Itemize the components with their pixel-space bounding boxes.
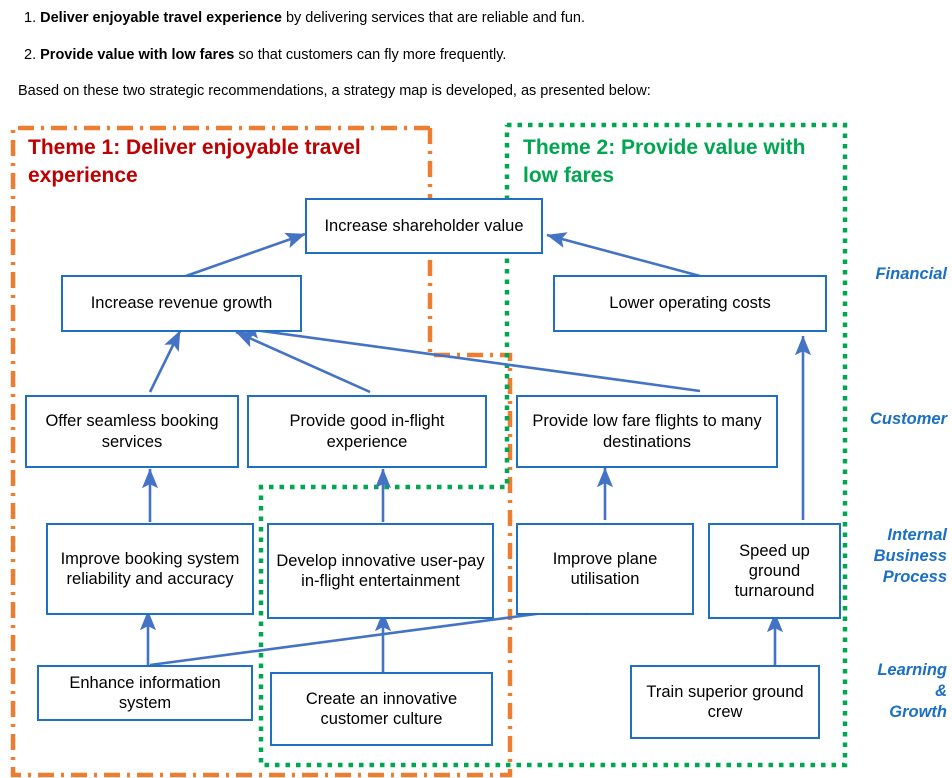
node-improve-booking-system-reliability[interactable]: Improve booking system reliability and a… [46, 523, 254, 615]
arrow-inflight-to-revenue [236, 332, 370, 392]
node-offer-seamless-booking-services[interactable]: Offer seamless booking services [25, 395, 239, 468]
node-increase-revenue-growth[interactable]: Increase revenue growth [61, 275, 302, 332]
theme-2-title: Theme 2: Provide value with low fares [523, 134, 823, 191]
theme-1-title: Theme 1: Deliver enjoyable travel experi… [28, 134, 408, 191]
node-improve-plane-utilisation[interactable]: Improve plane utilisation [516, 523, 694, 615]
perspective-label-internal-business-process: Internal Business Process [851, 525, 947, 588]
perspective-label-learning-line-3: Growth [851, 702, 947, 723]
node-increase-shareholder-value[interactable]: Increase shareholder value [305, 198, 543, 254]
node-create-innovative-customer-culture[interactable]: Create an innovative customer culture [270, 672, 493, 746]
recommendation-2-number: 2. [24, 47, 36, 63]
perspective-label-learning-line-2: & [851, 681, 947, 702]
recommendation-2: 2. Provide value with low fares so that … [24, 47, 506, 64]
perspective-label-internal-line-2: Business [851, 546, 947, 567]
strategy-map-lead-in: Based on these two strategic recommendat… [18, 83, 651, 100]
node-speed-up-ground-turnaround[interactable]: Speed up ground turnaround [708, 523, 841, 619]
strategy-map: Theme 1: Deliver enjoyable travel experi… [0, 112, 952, 778]
node-provide-good-inflight-experience[interactable]: Provide good in-flight experience [247, 395, 487, 468]
arrow-revenue-to-shareholder [186, 234, 305, 276]
node-lower-operating-costs[interactable]: Lower operating costs [553, 275, 827, 332]
node-enhance-information-system[interactable]: Enhance information system [37, 665, 253, 721]
recommendation-1: 1. Deliver enjoyable travel experience b… [24, 10, 585, 27]
recommendation-1-number: 1. [24, 10, 36, 26]
perspective-label-internal-line-1: Internal [851, 525, 947, 546]
perspective-label-learning-growth: Learning & Growth [851, 660, 947, 723]
node-train-superior-ground-crew[interactable]: Train superior ground crew [630, 665, 820, 739]
recommendation-2-bold: Provide value with low fares [40, 47, 234, 63]
perspective-label-internal-line-3: Process [851, 567, 947, 588]
arrow-costs-to-shareholder [547, 235, 700, 276]
perspective-label-financial: Financial [851, 264, 947, 285]
perspective-label-customer: Customer [851, 409, 947, 430]
arrow-booking-to-revenue [150, 331, 180, 392]
node-develop-innovative-entertainment[interactable]: Develop innovative user-pay in-flight en… [267, 523, 494, 619]
node-provide-low-fare-flights[interactable]: Provide low fare flights to many destina… [516, 395, 778, 468]
recommendation-2-rest: so that customers can fly more frequentl… [234, 47, 506, 63]
recommendation-1-rest: by delivering services that are reliable… [282, 10, 585, 26]
recommendation-1-bold: Deliver enjoyable travel experience [40, 10, 282, 26]
perspective-label-learning-line-1: Learning [851, 660, 947, 681]
arrow-lowfare-to-revenue [240, 328, 700, 391]
